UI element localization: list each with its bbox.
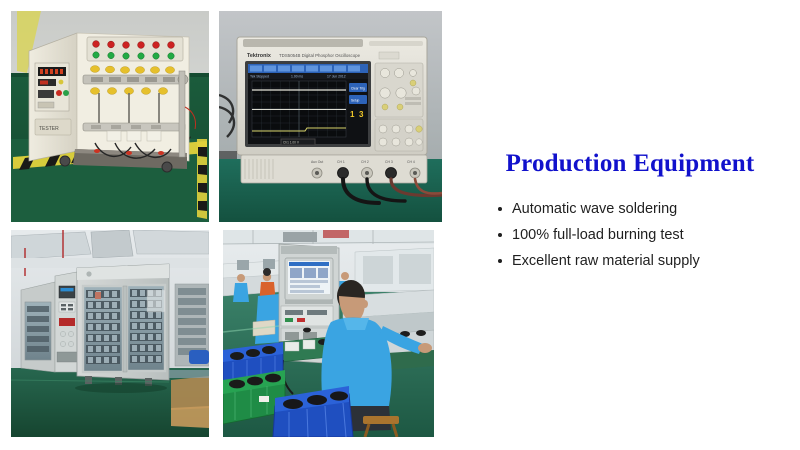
production-line-illustration bbox=[223, 230, 434, 437]
bullet-icon bbox=[498, 259, 502, 263]
list-item: 100% full-load burning test bbox=[512, 224, 790, 246]
svg-text:17 Jun 2012: 17 Jun 2012 bbox=[327, 75, 346, 79]
oscilloscope-illustration: Tektronix TDS5054B Digital Phosphor Osci… bbox=[219, 11, 442, 222]
svg-text:TDS5054B Digital Phosphor Osc: TDS5054B Digital Phosphor Oscilloscope bbox=[279, 53, 361, 58]
svg-text:CH 2: CH 2 bbox=[361, 160, 369, 164]
bullet-icon bbox=[498, 233, 502, 237]
svg-text:Tek Stopped: Tek Stopped bbox=[250, 75, 269, 79]
svg-text:Aux Out: Aux Out bbox=[311, 160, 323, 164]
cable-bend-tester-illustration: TESTER bbox=[11, 11, 209, 222]
svg-text:Clear Trig: Clear Trig bbox=[351, 86, 365, 90]
slide-canvas: TESTER bbox=[0, 0, 800, 450]
svg-text:Setup: Setup bbox=[351, 98, 360, 102]
svg-text:CH 1: CH 1 bbox=[337, 160, 345, 164]
svg-text:CH 4: CH 4 bbox=[407, 160, 415, 164]
feature-bullet-list: Automatic wave soldering 100% full-load … bbox=[470, 198, 790, 272]
svg-text:Ch1 1.00 V: Ch1 1.00 V bbox=[283, 141, 300, 145]
list-item-label: Excellent raw material supply bbox=[512, 253, 700, 269]
svg-text:Tektronix: Tektronix bbox=[247, 53, 271, 59]
photo-cable-bend-tester: TESTER bbox=[11, 11, 209, 222]
bullet-icon bbox=[498, 207, 502, 211]
burn-in-chambers-illustration bbox=[11, 230, 209, 437]
list-item: Excellent raw material supply bbox=[512, 250, 790, 272]
svg-text:1: 1 bbox=[350, 110, 355, 119]
photo-burn-in-chambers bbox=[11, 230, 209, 437]
svg-text:3: 3 bbox=[359, 110, 364, 119]
text-column: Production Equipment Automatic wave sold… bbox=[470, 150, 790, 276]
list-item-label: 100% full-load burning test bbox=[512, 227, 684, 243]
svg-text:TESTER: TESTER bbox=[39, 126, 59, 132]
photo-oscilloscope: Tektronix TDS5054B Digital Phosphor Osci… bbox=[219, 11, 442, 222]
page-title: Production Equipment bbox=[470, 150, 790, 178]
list-item-label: Automatic wave soldering bbox=[512, 201, 677, 217]
svg-text:1.00 ms: 1.00 ms bbox=[291, 75, 303, 79]
list-item: Automatic wave soldering bbox=[512, 198, 790, 220]
photo-production-line bbox=[223, 230, 434, 437]
svg-text:CH 3: CH 3 bbox=[385, 160, 393, 164]
